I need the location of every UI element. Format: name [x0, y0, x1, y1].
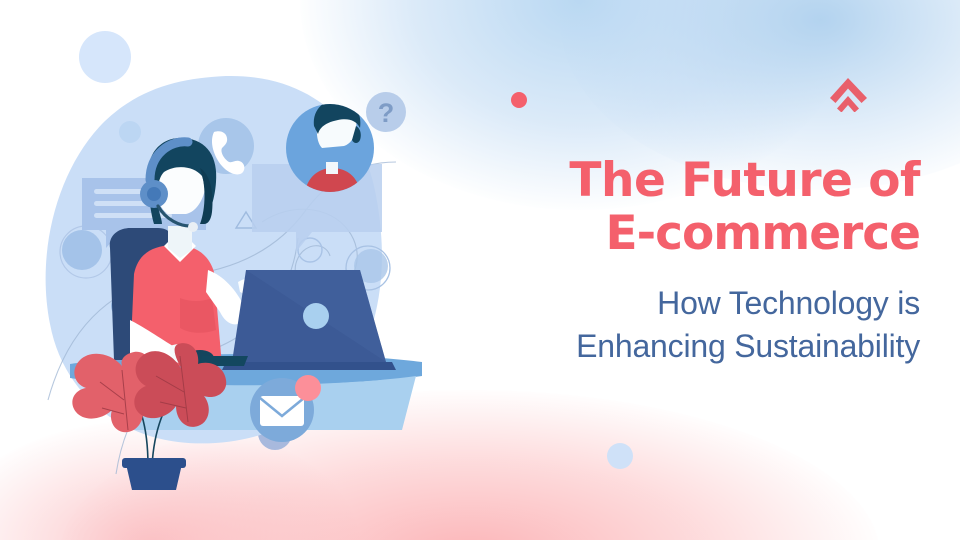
- svg-text:?: ?: [378, 98, 395, 128]
- page-title: The Future of E-commerce: [540, 155, 920, 260]
- headline-line-1: The Future of: [540, 155, 920, 208]
- text-block: The Future of E-commerce How Technology …: [540, 155, 920, 368]
- subhead-line-2: Enhancing Sustainability: [540, 325, 920, 368]
- poster-canvas: ?: [0, 0, 960, 540]
- brand-logo[interactable]: [826, 72, 872, 112]
- decorative-circle-bottom-right: [607, 443, 633, 469]
- hero-illustration: ?: [30, 70, 490, 490]
- headline-line-2: E-commerce: [540, 208, 920, 261]
- subhead-line-1: How Technology is: [540, 282, 920, 325]
- page-subtitle: How Technology is Enhancing Sustainabili…: [540, 282, 920, 368]
- double-chevron-up-icon: [826, 72, 872, 112]
- potted-plant-decoration: [72, 343, 226, 490]
- question-mark-badge: ?: [366, 92, 406, 132]
- decorative-dot-coral: [511, 92, 527, 108]
